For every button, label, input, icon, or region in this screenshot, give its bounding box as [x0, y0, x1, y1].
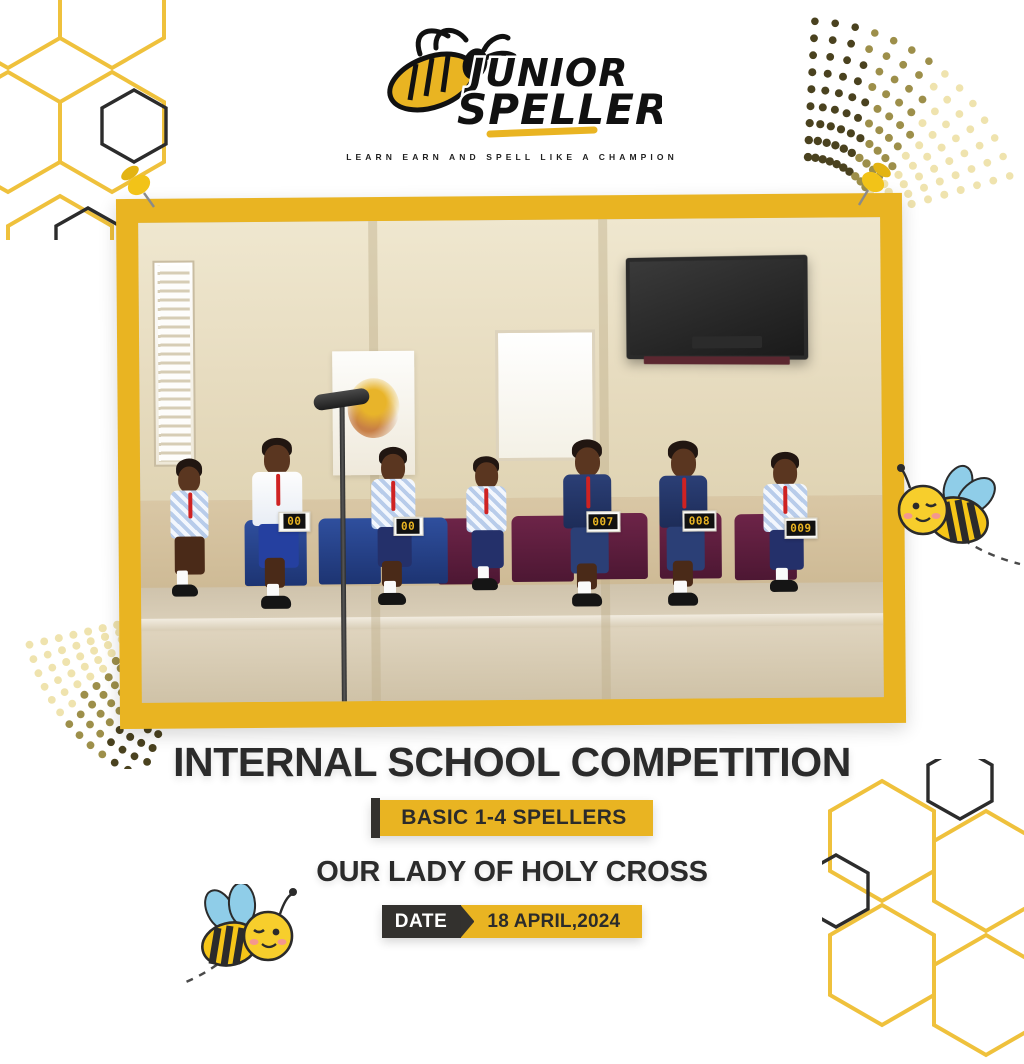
- pupil: 00: [362, 446, 431, 607]
- poster-canvas: JUNIOR SPELLER LEARN EARN AND SPELL LIKE…: [0, 0, 1024, 1024]
- pupil: [459, 456, 522, 604]
- tv-media-box: [692, 336, 762, 349]
- contestant-placard: 007: [586, 511, 620, 532]
- photo-frame: 00 00: [116, 193, 906, 729]
- event-headline: INTERNAL SCHOOL COMPETITION: [0, 742, 1024, 783]
- event-details: INTERNAL SCHOOL COMPETITION BASIC 1-4 SP…: [0, 742, 1024, 938]
- svg-text:SPELLER: SPELLER: [457, 85, 662, 134]
- pupil: 007: [555, 439, 626, 608]
- date-label: DATE: [382, 905, 462, 938]
- contestant-number: 007: [588, 514, 617, 529]
- date-banner: DATE 18 APRIL,2024: [382, 905, 643, 938]
- junior-speller-logo-mark: JUNIOR SPELLER: [362, 24, 662, 144]
- audience-seating: 00 00: [140, 419, 883, 617]
- pushpin-icon-left: [118, 163, 162, 209]
- category-banner-label: BASIC 1-4 SPELLERS: [401, 806, 626, 830]
- contestant-placard: 009: [784, 517, 817, 538]
- pushpin-icon-right: [850, 160, 894, 206]
- bee-icon-right: [896, 462, 1024, 585]
- pupil: [162, 458, 223, 608]
- contestant-placard: 008: [682, 510, 716, 531]
- brand-logo: JUNIOR SPELLER LEARN EARN AND SPELL LIKE…: [0, 24, 1024, 162]
- contestant-number: 009: [786, 520, 815, 535]
- pupil: 008: [652, 440, 723, 607]
- pupil: 00: [244, 437, 319, 610]
- category-banner: BASIC 1-4 SPELLERS: [371, 800, 652, 836]
- pupil: 009: [756, 451, 823, 604]
- event-venue: OUR LADY OF HOLY CROSS: [0, 856, 1024, 889]
- contestant-number: 008: [685, 513, 714, 528]
- brand-tagline: LEARN EARN AND SPELL LIKE A CHAMPION: [346, 152, 678, 162]
- date-value: 18 APRIL,2024: [461, 905, 642, 938]
- event-photo: 00 00: [138, 217, 884, 703]
